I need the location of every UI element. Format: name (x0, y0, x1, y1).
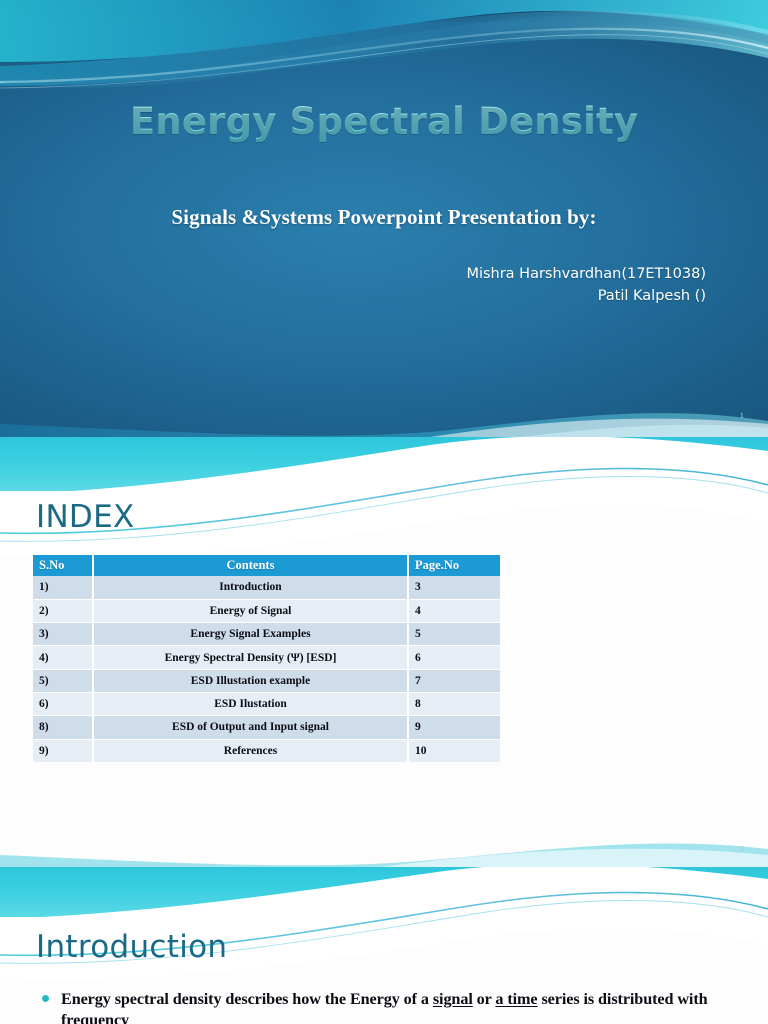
slide-number: 1 (740, 413, 744, 420)
cell-sno: 5) (33, 669, 93, 692)
column-header-sno: S.No (33, 555, 93, 576)
cell-pageno: 10 (408, 739, 500, 762)
bullet-underlined-signal: signal (433, 990, 473, 1008)
table-row: 6) ESD Ilustation 8 (33, 692, 500, 715)
cell-sno: 2) (33, 599, 93, 622)
cell-sno: 1) (33, 576, 93, 599)
bullet-underlined-atime: a time (495, 990, 537, 1008)
cell-contents: ESD of Output and Input signal (93, 716, 408, 739)
slide-index-page[interactable]: INDEX S.No Contents Page.No 1) Introduct… (0, 437, 768, 867)
table-row: 5) ESD Illustation example 7 (33, 669, 500, 692)
cell-contents: ESD Ilustation (93, 692, 408, 715)
cell-sno: 3) (33, 623, 93, 646)
cell-sno: 6) (33, 692, 93, 715)
cell-contents: Introduction (93, 576, 408, 599)
cell-sno: 9) (33, 739, 93, 762)
table-row: 3) Energy Signal Examples 5 (33, 623, 500, 646)
slide-introduction-page[interactable]: Introduction Energy spectral density des… (0, 867, 768, 1024)
cell-pageno: 9 (408, 716, 500, 739)
bullet-lead-text: Energy spectral density describes how th… (61, 990, 433, 1008)
presentation-scroll-view[interactable]: Energy Spectral Density Signals &Systems… (0, 0, 768, 1024)
table-header-row: S.No Contents Page.No (33, 555, 500, 576)
table-row: 9) References 10 (33, 739, 500, 762)
cell-pageno: 6 (408, 646, 500, 669)
index-table: S.No Contents Page.No 1) Introduction 3 … (33, 555, 500, 763)
page-title: INDEX (36, 499, 135, 535)
cell-sno: 8) (33, 716, 93, 739)
bullet-dot-icon (42, 995, 49, 1002)
column-header-pageno: Page.No (408, 555, 500, 576)
author-name-2: Patil Kalpesh () (466, 285, 706, 307)
bullet-text: Energy spectral density describes how th… (61, 989, 738, 1024)
cell-pageno: 8 (408, 692, 500, 715)
cell-pageno: 3 (408, 576, 500, 599)
cell-pageno: 4 (408, 599, 500, 622)
page-title: Energy Spectral Density (0, 100, 768, 143)
bullet-list-item: Energy spectral density describes how th… (42, 989, 738, 1024)
presentation-subtitle: Signals &Systems Powerpoint Presentation… (0, 205, 768, 230)
cell-contents: References (93, 739, 408, 762)
cell-sno: 4) (33, 646, 93, 669)
slide-title-page[interactable]: Energy Spectral Density Signals &Systems… (0, 0, 768, 437)
cell-contents: Energy Spectral Density (Ψ) [ESD] (93, 646, 408, 669)
cell-contents: ESD Illustation example (93, 669, 408, 692)
author-name-1: Mishra Harshvardhan(17ET1038) (466, 263, 706, 285)
author-list: Mishra Harshvardhan(17ET1038) Patil Kalp… (466, 263, 706, 308)
table-row: 8) ESD of Output and Input signal 9 (33, 716, 500, 739)
table-row: 1) Introduction 3 (33, 576, 500, 599)
cell-contents: Energy Signal Examples (93, 623, 408, 646)
cell-pageno: 7 (408, 669, 500, 692)
table-row: 4) Energy Spectral Density (Ψ) [ESD] 6 (33, 646, 500, 669)
page-title: Introduction (36, 929, 227, 965)
bullet-mid-text: or (473, 990, 496, 1008)
cell-pageno: 5 (408, 623, 500, 646)
slide-number: 2 (740, 846, 744, 853)
column-header-contents: Contents (93, 555, 408, 576)
cell-contents: Energy of Signal (93, 599, 408, 622)
table-row: 2) Energy of Signal 4 (33, 599, 500, 622)
